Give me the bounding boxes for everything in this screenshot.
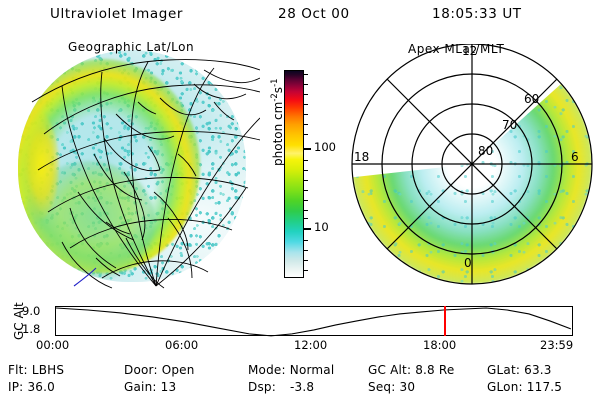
- status-gc-alt-value: 8.8 Re: [415, 363, 454, 377]
- instrument-title: Ultraviolet Imager: [50, 6, 183, 22]
- polar-grid-overlay: [340, 44, 596, 292]
- colorbar-title-mid: s: [271, 87, 285, 93]
- status-ip-label: IP:: [8, 380, 23, 394]
- colorbar-title-exponent-1: -2: [270, 93, 280, 101]
- status-mode: Mode: Normal: [248, 363, 334, 377]
- polar-dial-panel[interactable]: 12 18 6 0 60 70 80 Apex MLat/MLT: [340, 44, 596, 292]
- altitude-curve: [56, 307, 572, 337]
- mlat-label-60: 60: [524, 92, 539, 106]
- status-seq: Seq: 30: [368, 380, 415, 394]
- status-glon-value: 117.5: [527, 380, 562, 394]
- mlt-label-6: 6: [571, 150, 579, 164]
- status-gc-alt: GC Alt: 8.8 Re: [368, 363, 454, 377]
- strip-x-tick-2: 12:00: [294, 338, 327, 352]
- strip-x-tick-4: 23:59: [540, 338, 573, 352]
- strip-x-tick-3: 18:00: [423, 338, 456, 352]
- status-door-label: Door:: [124, 363, 158, 377]
- colorbar-tick-10: 10: [314, 220, 329, 234]
- status-gc-alt-label: GC Alt:: [368, 363, 411, 377]
- status-dsp: Dsp: -3.8: [248, 380, 314, 394]
- colorbar[interactable]: 100 10 photon cm-2s-1: [284, 70, 304, 278]
- geographic-image-panel[interactable]: Geographic Lat/Lon: [8, 42, 260, 290]
- status-glat: GLat: 63.3: [487, 363, 552, 377]
- current-time-marker: [444, 306, 446, 336]
- status-gain-value: 13: [161, 380, 177, 394]
- mlat-label-70: 70: [502, 118, 517, 132]
- strip-x-tick-0: 00:00: [36, 338, 69, 352]
- header-bar: Ultraviolet Imager 28 Oct 00 18:05:33 UT: [0, 6, 600, 28]
- status-ip: IP: 36.0: [8, 380, 55, 394]
- status-glat-value: 63.3: [524, 363, 552, 377]
- status-flt-value: LBHS: [32, 363, 64, 377]
- orbit-altitude-strip[interactable]: GC Alt 9.0 1.8 00:00 06:00 12:00 18:00 2…: [0, 296, 600, 358]
- status-dsp-value: -3.8: [290, 380, 314, 394]
- observation-time: 18:05:33 UT: [432, 6, 522, 22]
- mlt-label-0: 0: [464, 256, 472, 270]
- ultraviolet-imager-window: Ultraviolet Imager 28 Oct 00 18:05:33 UT: [0, 0, 600, 400]
- strip-y-tick-low: 1.8: [22, 322, 40, 336]
- status-ip-value: 36.0: [27, 380, 55, 394]
- polar-panel-caption: Apex MLat/MLT: [408, 42, 504, 56]
- geographic-panel-caption: Geographic Lat/Lon: [68, 42, 194, 54]
- colorbar-title-main: photon cm: [271, 102, 285, 166]
- mlat-label-80: 80: [478, 144, 493, 158]
- geographic-overlay: [8, 42, 260, 290]
- colorbar-title-exponent-2: -1: [270, 78, 280, 86]
- colorbar-gradient: [284, 70, 304, 278]
- status-door: Door: Open: [124, 363, 195, 377]
- status-glat-label: GLat:: [487, 363, 520, 377]
- mlt-label-18: 18: [354, 150, 369, 164]
- status-seq-label: Seq:: [368, 380, 395, 394]
- status-mode-label: Mode:: [248, 363, 286, 377]
- strip-y-tick-high: 9.0: [22, 304, 40, 318]
- status-gain: Gain: 13: [124, 380, 176, 394]
- colorbar-axis-title: photon cm-2s-1: [270, 78, 285, 166]
- status-glon-label: GLon:: [487, 380, 523, 394]
- status-seq-value: 30: [399, 380, 415, 394]
- strip-x-tick-1: 06:00: [165, 338, 198, 352]
- status-glon: GLon: 117.5: [487, 380, 562, 394]
- status-block: Flt: LBHS Door: Open Mode: Normal GC Alt…: [0, 362, 600, 398]
- colorbar-tick-100: 100: [314, 140, 336, 154]
- status-gain-label: Gain:: [124, 380, 157, 394]
- observation-date: 28 Oct 00: [278, 6, 350, 22]
- status-door-value: Open: [162, 363, 195, 377]
- strip-plot-box: [55, 306, 573, 336]
- status-flt-label: Flt:: [8, 363, 28, 377]
- colorbar-ticks: [304, 70, 312, 278]
- status-flt: Flt: LBHS: [8, 363, 64, 377]
- status-dsp-label: Dsp:: [248, 380, 276, 394]
- status-mode-value: Normal: [290, 363, 335, 377]
